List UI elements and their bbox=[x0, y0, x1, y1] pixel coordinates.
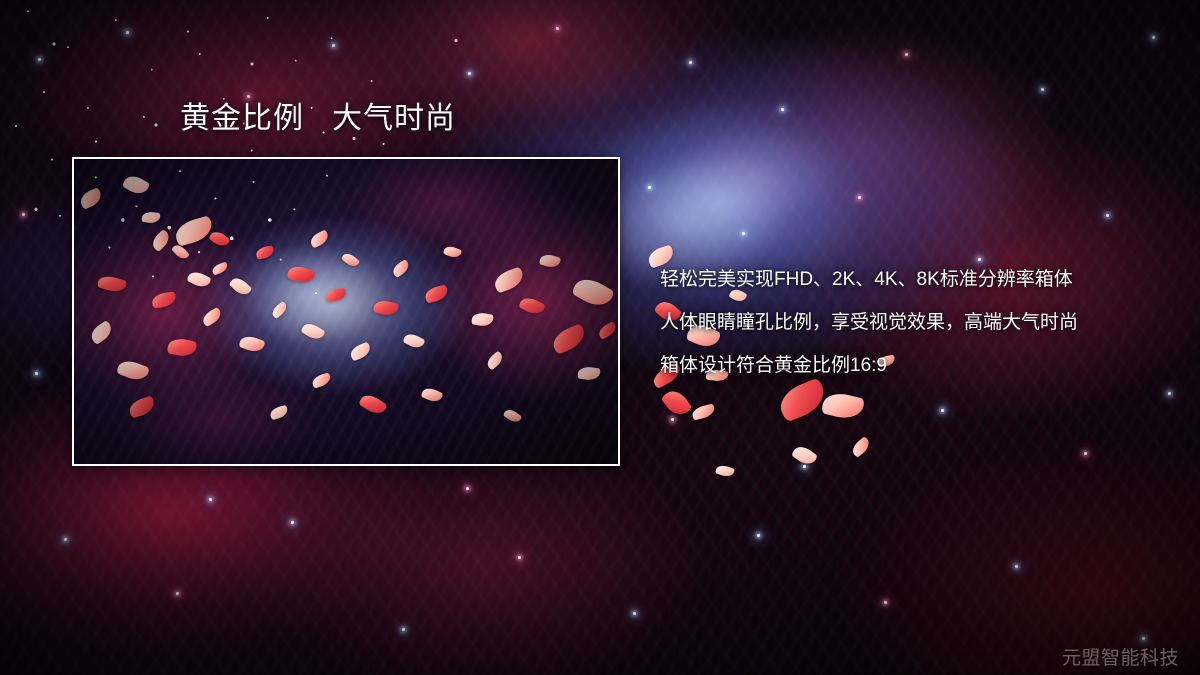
star-icon bbox=[1015, 565, 1018, 568]
petal-shape bbox=[849, 436, 872, 458]
star-icon bbox=[671, 418, 674, 421]
star-icon bbox=[905, 53, 908, 56]
copy-line-3: 箱体设计符合黄金比例16:9 bbox=[660, 344, 1180, 387]
petal-shape bbox=[715, 463, 735, 478]
star-icon bbox=[941, 409, 944, 412]
copy-line-1: 轻松完美实现FHD、2K、4K、8K标准分辨率箱体 bbox=[660, 258, 1180, 301]
framed-photo bbox=[72, 157, 620, 466]
star-icon bbox=[757, 534, 760, 537]
star-icon bbox=[1168, 392, 1171, 395]
star-icon bbox=[781, 108, 784, 111]
star-icon bbox=[1142, 637, 1145, 640]
star-icon bbox=[209, 498, 212, 501]
photo-vignette bbox=[74, 159, 618, 464]
star-icon bbox=[64, 538, 67, 541]
star-icon bbox=[1041, 88, 1044, 91]
slide-canvas: 黄金比例 大气时尚 轻松完美实现FHD、2K、4K、8K标准分辨率箱体 人体眼睛… bbox=[0, 0, 1200, 675]
star-icon bbox=[803, 465, 806, 468]
star-icon bbox=[468, 72, 471, 75]
star-icon bbox=[1152, 36, 1155, 39]
star-icon bbox=[633, 612, 636, 615]
star-icon bbox=[689, 61, 692, 64]
body-copy: 轻松完美实现FHD、2K、4K、8K标准分辨率箱体 人体眼睛瞳孔比例，享受视觉效… bbox=[660, 258, 1180, 387]
star-icon bbox=[291, 521, 294, 524]
star-icon bbox=[35, 372, 38, 375]
star-icon bbox=[247, 95, 250, 98]
star-icon bbox=[22, 213, 25, 216]
petal-shape bbox=[821, 390, 866, 423]
star-icon bbox=[884, 601, 887, 604]
star-icon bbox=[742, 232, 745, 235]
star-icon bbox=[38, 58, 41, 61]
star-icon bbox=[556, 27, 559, 30]
page-title: 黄金比例 大气时尚 bbox=[180, 100, 456, 138]
star-icon bbox=[402, 628, 405, 631]
star-icon bbox=[332, 44, 335, 47]
petal-shape bbox=[791, 443, 818, 469]
watermark: 元盟智能科技 bbox=[1062, 646, 1179, 672]
star-icon bbox=[176, 592, 179, 595]
star-icon bbox=[518, 556, 521, 559]
star-icon bbox=[648, 186, 651, 189]
petal-shape bbox=[691, 403, 716, 420]
copy-line-2: 人体眼睛瞳孔比例，享受视觉效果，高端大气时尚 bbox=[660, 301, 1180, 344]
photo-image bbox=[74, 159, 618, 464]
star-icon bbox=[126, 31, 129, 34]
star-icon bbox=[1106, 214, 1109, 217]
petal-shape bbox=[660, 386, 692, 420]
star-icon bbox=[858, 196, 861, 199]
star-icon bbox=[466, 487, 469, 490]
star-icon bbox=[1084, 452, 1087, 455]
